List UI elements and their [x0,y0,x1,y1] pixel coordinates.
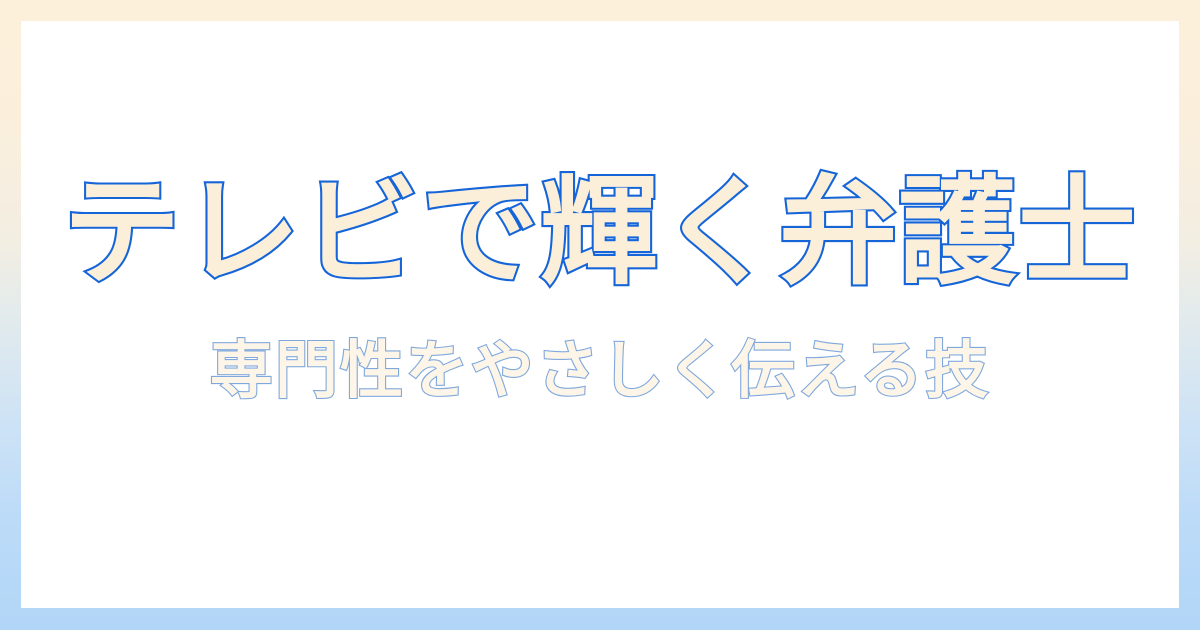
poster-canvas: テレビで輝く弁護士 専門性をやさしく伝える技 [0,0,1200,630]
poster-subheadline: 専門性をやさしく伝える技 [210,339,991,402]
poster-card: テレビで輝く弁護士 専門性をやさしく伝える技 [21,21,1179,608]
poster-headline: テレビで輝く弁護士 [63,173,1138,291]
poster-content: テレビで輝く弁護士 専門性をやさしく伝える技 [21,21,1179,608]
